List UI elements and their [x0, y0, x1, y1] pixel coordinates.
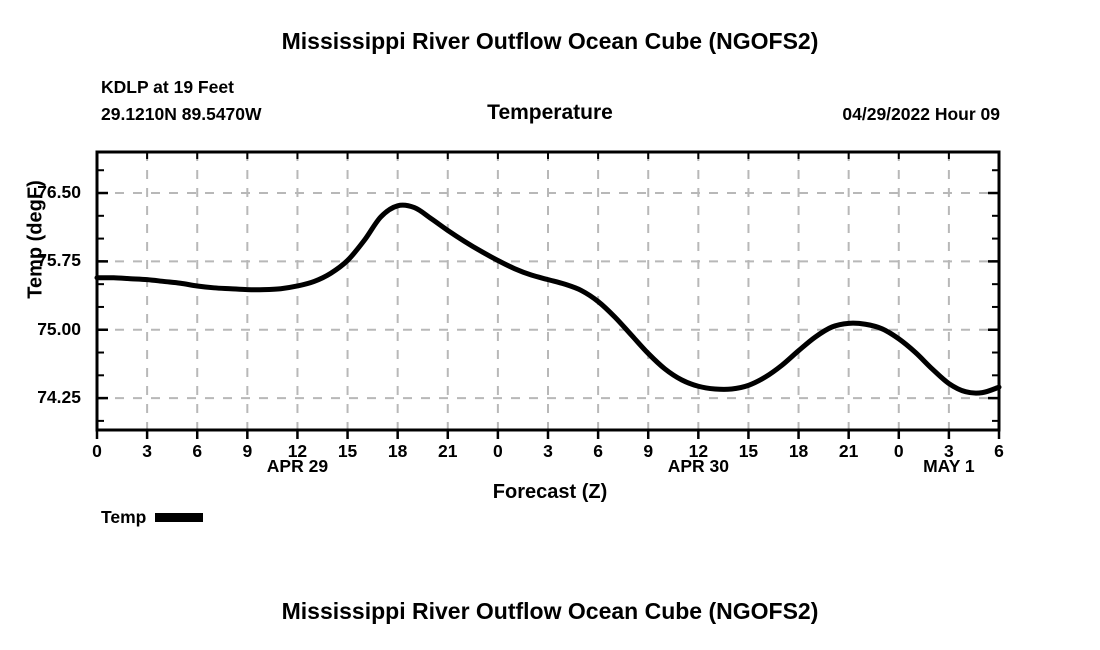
- x-tick-label: 0: [478, 441, 518, 462]
- bottom-title: Mississippi River Outflow Ocean Cube (NG…: [0, 598, 1100, 625]
- legend-line-swatch: [155, 513, 203, 522]
- x-tick-label: 6: [177, 441, 217, 462]
- x-tick-label: 18: [779, 441, 819, 462]
- x-tick-label: 6: [578, 441, 618, 462]
- y-tick-label: 74.25: [1, 387, 81, 408]
- x-day-label: MAY 1: [889, 456, 1009, 477]
- x-tick-label: 21: [428, 441, 468, 462]
- x-axis-label: Forecast (Z): [0, 481, 1100, 504]
- x-tick-label: 3: [528, 441, 568, 462]
- x-tick-label: 0: [77, 441, 117, 462]
- x-tick-label: 3: [127, 441, 167, 462]
- legend-label: Temp: [101, 507, 146, 528]
- y-tick-label: 75.00: [1, 319, 81, 340]
- plot-area: 76.5075.7575.0074.25 0369121518210369121…: [0, 0, 1100, 650]
- chart-page: Mississippi River Outflow Ocean Cube (NG…: [0, 0, 1100, 650]
- x-tick-label: 18: [378, 441, 418, 462]
- x-day-label: APR 29: [237, 456, 357, 477]
- y-axis-label: Temp (degF): [25, 160, 48, 320]
- legend: Temp: [101, 507, 203, 528]
- x-day-label: APR 30: [638, 456, 758, 477]
- x-tick-label: 21: [829, 441, 869, 462]
- chart-svg: [0, 0, 1100, 650]
